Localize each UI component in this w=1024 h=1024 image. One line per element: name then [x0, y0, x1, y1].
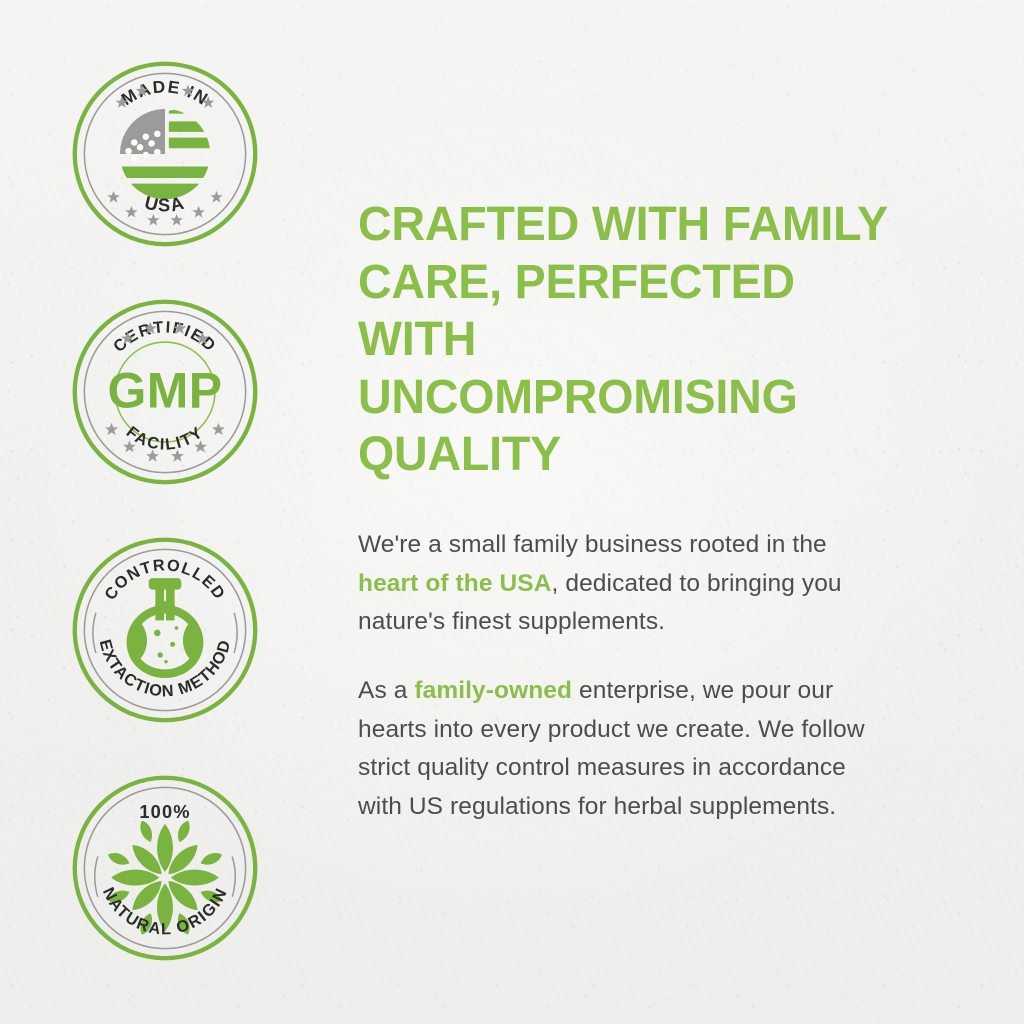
- paragraph-2-before: As a: [358, 677, 414, 704]
- badge-made-in-usa: MADE IN USA: [69, 58, 261, 250]
- decorative-arc-left: [93, 613, 96, 653]
- infographic-page: MADE IN USA: [0, 0, 1024, 1024]
- paragraph-1-highlight: heart of the USA: [358, 570, 552, 597]
- decorative-arc-right: [234, 613, 237, 653]
- badge-bottom-label: FACILITY: [123, 423, 207, 454]
- trust-badges-column: MADE IN USA: [0, 0, 330, 1024]
- badge-natural-origin: 100%: [69, 772, 261, 964]
- badge-gmp-certified: GMP CERTIFIED FACILITY: [69, 296, 261, 488]
- badge-controlled-extraction: CONTROLLED EXTACTION METHOD: [69, 534, 261, 726]
- content-wrapper: MADE IN USA: [0, 0, 1024, 1024]
- body-paragraph-2: As a family-owned enterprise, we pour ou…: [358, 672, 886, 827]
- usa-flag-circle-icon: [120, 109, 213, 203]
- flask-leaves-icon: [127, 578, 204, 678]
- decorative-arc-left: [95, 856, 98, 896]
- decorative-arc-right: [232, 856, 235, 896]
- badge-bottom-label: EXTACTION METHOD: [96, 638, 235, 701]
- paragraph-2-highlight: family-owned: [414, 677, 572, 704]
- paragraph-1-before: We're a small family business rooted in …: [358, 531, 827, 558]
- badge-bottom-label: USA: [143, 192, 188, 216]
- gmp-text-icon: GMP: [107, 362, 222, 418]
- body-paragraph-1: We're a small family business rooted in …: [358, 526, 886, 642]
- page-headline: CRAFTED WITH FAMILY CARE, PERFECTED WITH…: [358, 196, 897, 484]
- badge-top-label: 100%: [139, 801, 190, 822]
- text-column: CRAFTED WITH FAMILY CARE, PERFECTED WITH…: [330, 0, 1024, 1024]
